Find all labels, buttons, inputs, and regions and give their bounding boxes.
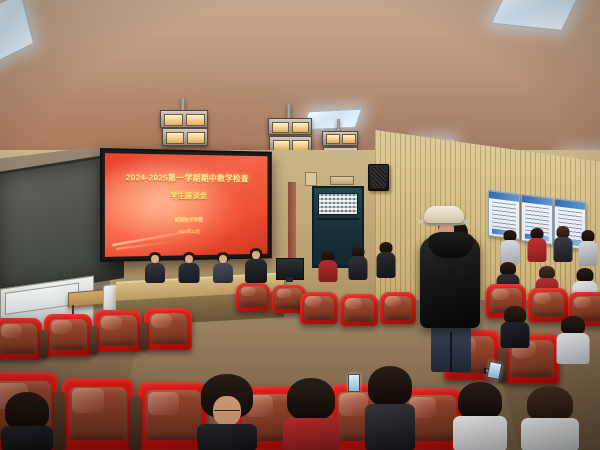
lamp-cell (342, 134, 356, 144)
auditorium-seat (340, 294, 378, 326)
torso (501, 322, 530, 348)
audience-member-foreground (196, 374, 258, 450)
torso (197, 424, 257, 450)
seat-armrest (140, 322, 148, 350)
audience-member-foreground (520, 386, 580, 450)
audience-member (578, 230, 598, 266)
seat-highlight (151, 314, 172, 328)
jeans-seam (450, 332, 452, 372)
seat-highlight (101, 316, 122, 330)
lamp-cell (326, 134, 340, 144)
poster-header (489, 191, 519, 202)
seat-armrest (130, 396, 141, 450)
auditorium-seat (62, 378, 134, 450)
wall-notice (305, 172, 317, 186)
auditorium-seat (94, 310, 142, 352)
auditorium-seat (0, 318, 42, 360)
seat-highlight (277, 289, 292, 299)
lamp-housing (162, 128, 208, 146)
seat-highlight (345, 298, 362, 309)
seat-highlight (51, 320, 72, 334)
torso (528, 238, 547, 262)
lamp-housing (268, 118, 312, 135)
audience-member (500, 306, 530, 348)
torso (213, 263, 233, 283)
projection-screen: 2024-2025第一学期期中教学检查 学生座谈会 管理技术学院 2024年11… (100, 148, 272, 262)
face (219, 255, 227, 263)
auditorium-seat (144, 308, 192, 350)
torso (145, 263, 165, 283)
lamp-cell (272, 122, 289, 133)
hair (527, 386, 573, 422)
hair (577, 268, 594, 282)
jacket-hood (428, 232, 474, 258)
panelist (144, 252, 166, 282)
audience-member (553, 226, 573, 262)
audience-member-foreground (452, 382, 508, 450)
torso (377, 252, 396, 278)
seat-highlight (241, 287, 256, 297)
seat-highlight (492, 289, 510, 301)
seat-highlight (385, 296, 401, 307)
lecture-hall-photo: 2024-2025第一学期期中教学检查 学生座谈会 管理技术学院 2024年11… (0, 0, 600, 450)
panelist (178, 252, 200, 282)
slide-title: 2024-2025第一学期期中教学检查 (115, 171, 258, 184)
monitor-stand (286, 277, 293, 282)
seat-armrest (40, 330, 48, 358)
audience-member (376, 242, 396, 278)
panelist (244, 248, 268, 282)
torso (521, 418, 579, 450)
poster-header (522, 195, 552, 206)
wall-speaker-icon (368, 164, 389, 191)
auditorium-seat (300, 292, 338, 324)
face (185, 255, 193, 263)
lamp-cell (186, 114, 205, 126)
audience-member (500, 230, 520, 264)
hair (287, 378, 335, 420)
audience-member (318, 250, 338, 282)
torso (1, 426, 53, 450)
standing-person (418, 206, 492, 381)
slide-organization: 管理技术学院 (122, 217, 252, 225)
seat-highlight (534, 293, 552, 305)
projected-slide: 2024-2025第一学期期中教学检查 学生座谈会 管理技术学院 2024年11… (105, 153, 268, 257)
slide-subtitle: 学生座谈会 (115, 191, 258, 202)
door-frame (288, 182, 296, 266)
seat-highlight (305, 296, 322, 307)
hair (5, 392, 49, 430)
lamp-cell (187, 132, 205, 144)
seat-highlight (574, 297, 592, 309)
door-sign (330, 176, 354, 185)
lamp-cell (166, 132, 184, 144)
seat-highlight (72, 388, 104, 412)
speaker-mesh (371, 167, 386, 188)
torso (365, 404, 415, 450)
hair (368, 366, 412, 406)
seat-highlight (148, 392, 179, 415)
audience-member-foreground (364, 366, 416, 450)
torso (579, 241, 598, 266)
panelist (212, 252, 234, 282)
audience-member (348, 246, 368, 280)
lamp-cell (164, 114, 183, 126)
lamp-housing (160, 110, 208, 128)
auditorium-seat (380, 292, 416, 324)
door-divider (317, 218, 359, 220)
torso (245, 259, 267, 283)
torso (554, 237, 573, 262)
eyeglasses (214, 410, 240, 413)
lamp-cell (292, 122, 309, 133)
audience-member-foreground (282, 378, 340, 450)
torso (179, 263, 200, 283)
stage-light-rig-left (160, 104, 206, 148)
smartphone (348, 374, 360, 392)
face (252, 251, 260, 259)
hair (458, 382, 502, 420)
audience-member (527, 228, 547, 262)
bucket-hat (424, 206, 464, 223)
poster-header (555, 199, 585, 210)
torso (501, 240, 520, 264)
seat-armrest (54, 392, 65, 450)
torso (283, 418, 339, 450)
seat-armrest (90, 326, 98, 354)
face (151, 255, 159, 263)
torso (453, 416, 507, 450)
auditorium-seat (44, 314, 92, 356)
torso (319, 260, 338, 282)
seat-highlight (1, 324, 22, 338)
door-glass-panel (318, 193, 358, 215)
lamp-housing (322, 131, 358, 146)
auditorium-seat (236, 283, 270, 311)
audience-member-foreground (0, 392, 54, 450)
torso (557, 333, 590, 364)
audience-member (556, 316, 590, 364)
torso (349, 256, 368, 280)
